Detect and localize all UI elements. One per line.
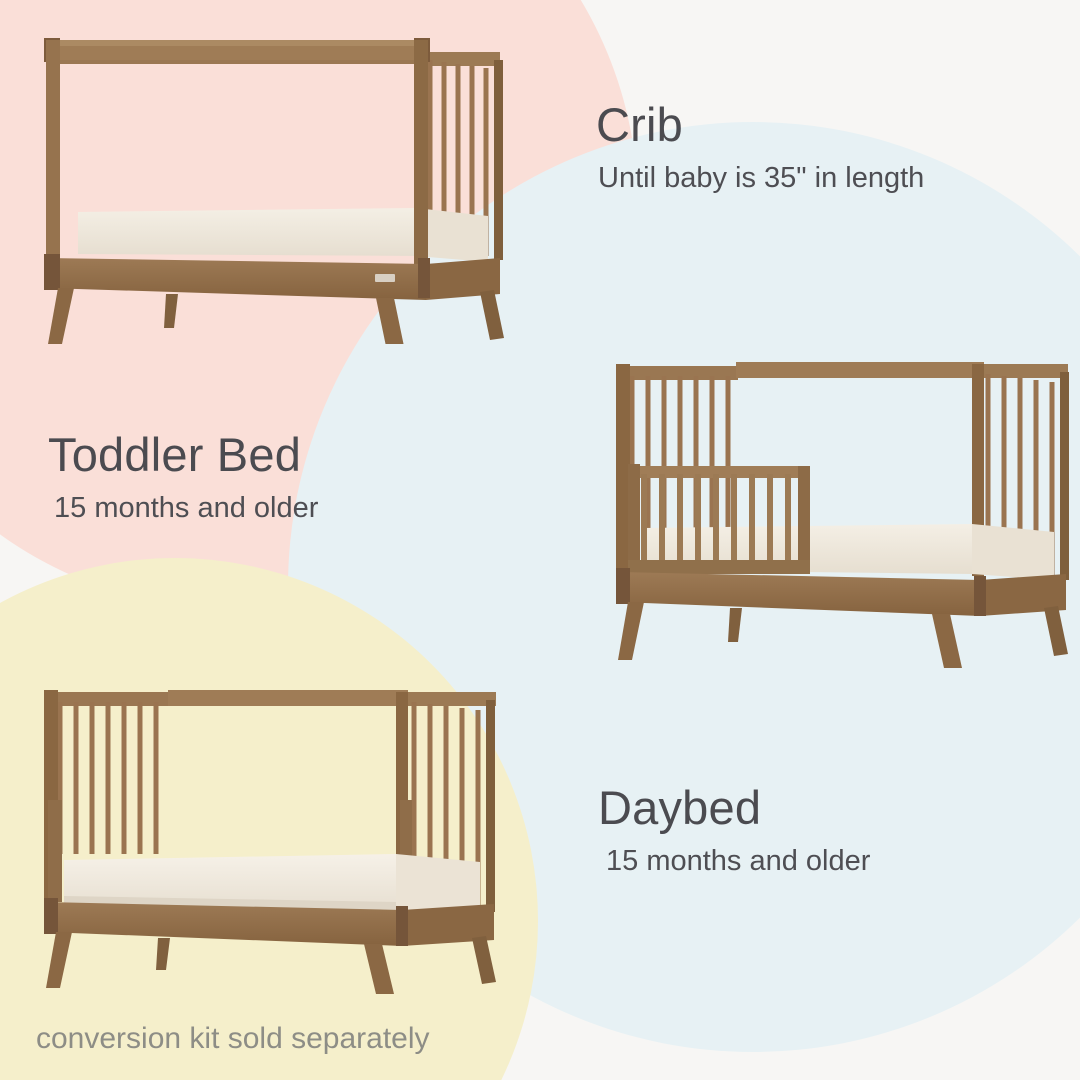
toddler-bed-subtitle: 15 months and older <box>54 491 318 526</box>
infographic-canvas: Crib Until baby is 35" in length Toddler… <box>0 0 1080 1080</box>
crib-title: Crib <box>596 100 924 149</box>
crib-subtitle: Until baby is 35" in length <box>598 161 924 196</box>
toddler-bed-label-group: Toddler Bed 15 months and older <box>48 430 318 526</box>
daybed-title: Daybed <box>598 783 870 832</box>
toddler-bed-product-image <box>588 338 1080 668</box>
toddler-bed-title: Toddler Bed <box>48 430 318 479</box>
conversion-kit-footnote: conversion kit sold separately <box>36 1022 430 1056</box>
crib-product-image <box>18 26 514 344</box>
daybed-product-image <box>18 668 518 994</box>
daybed-label-group: Daybed 15 months and older <box>598 783 870 879</box>
daybed-subtitle: 15 months and older <box>606 844 870 879</box>
crib-label-group: Crib Until baby is 35" in length <box>596 100 924 196</box>
